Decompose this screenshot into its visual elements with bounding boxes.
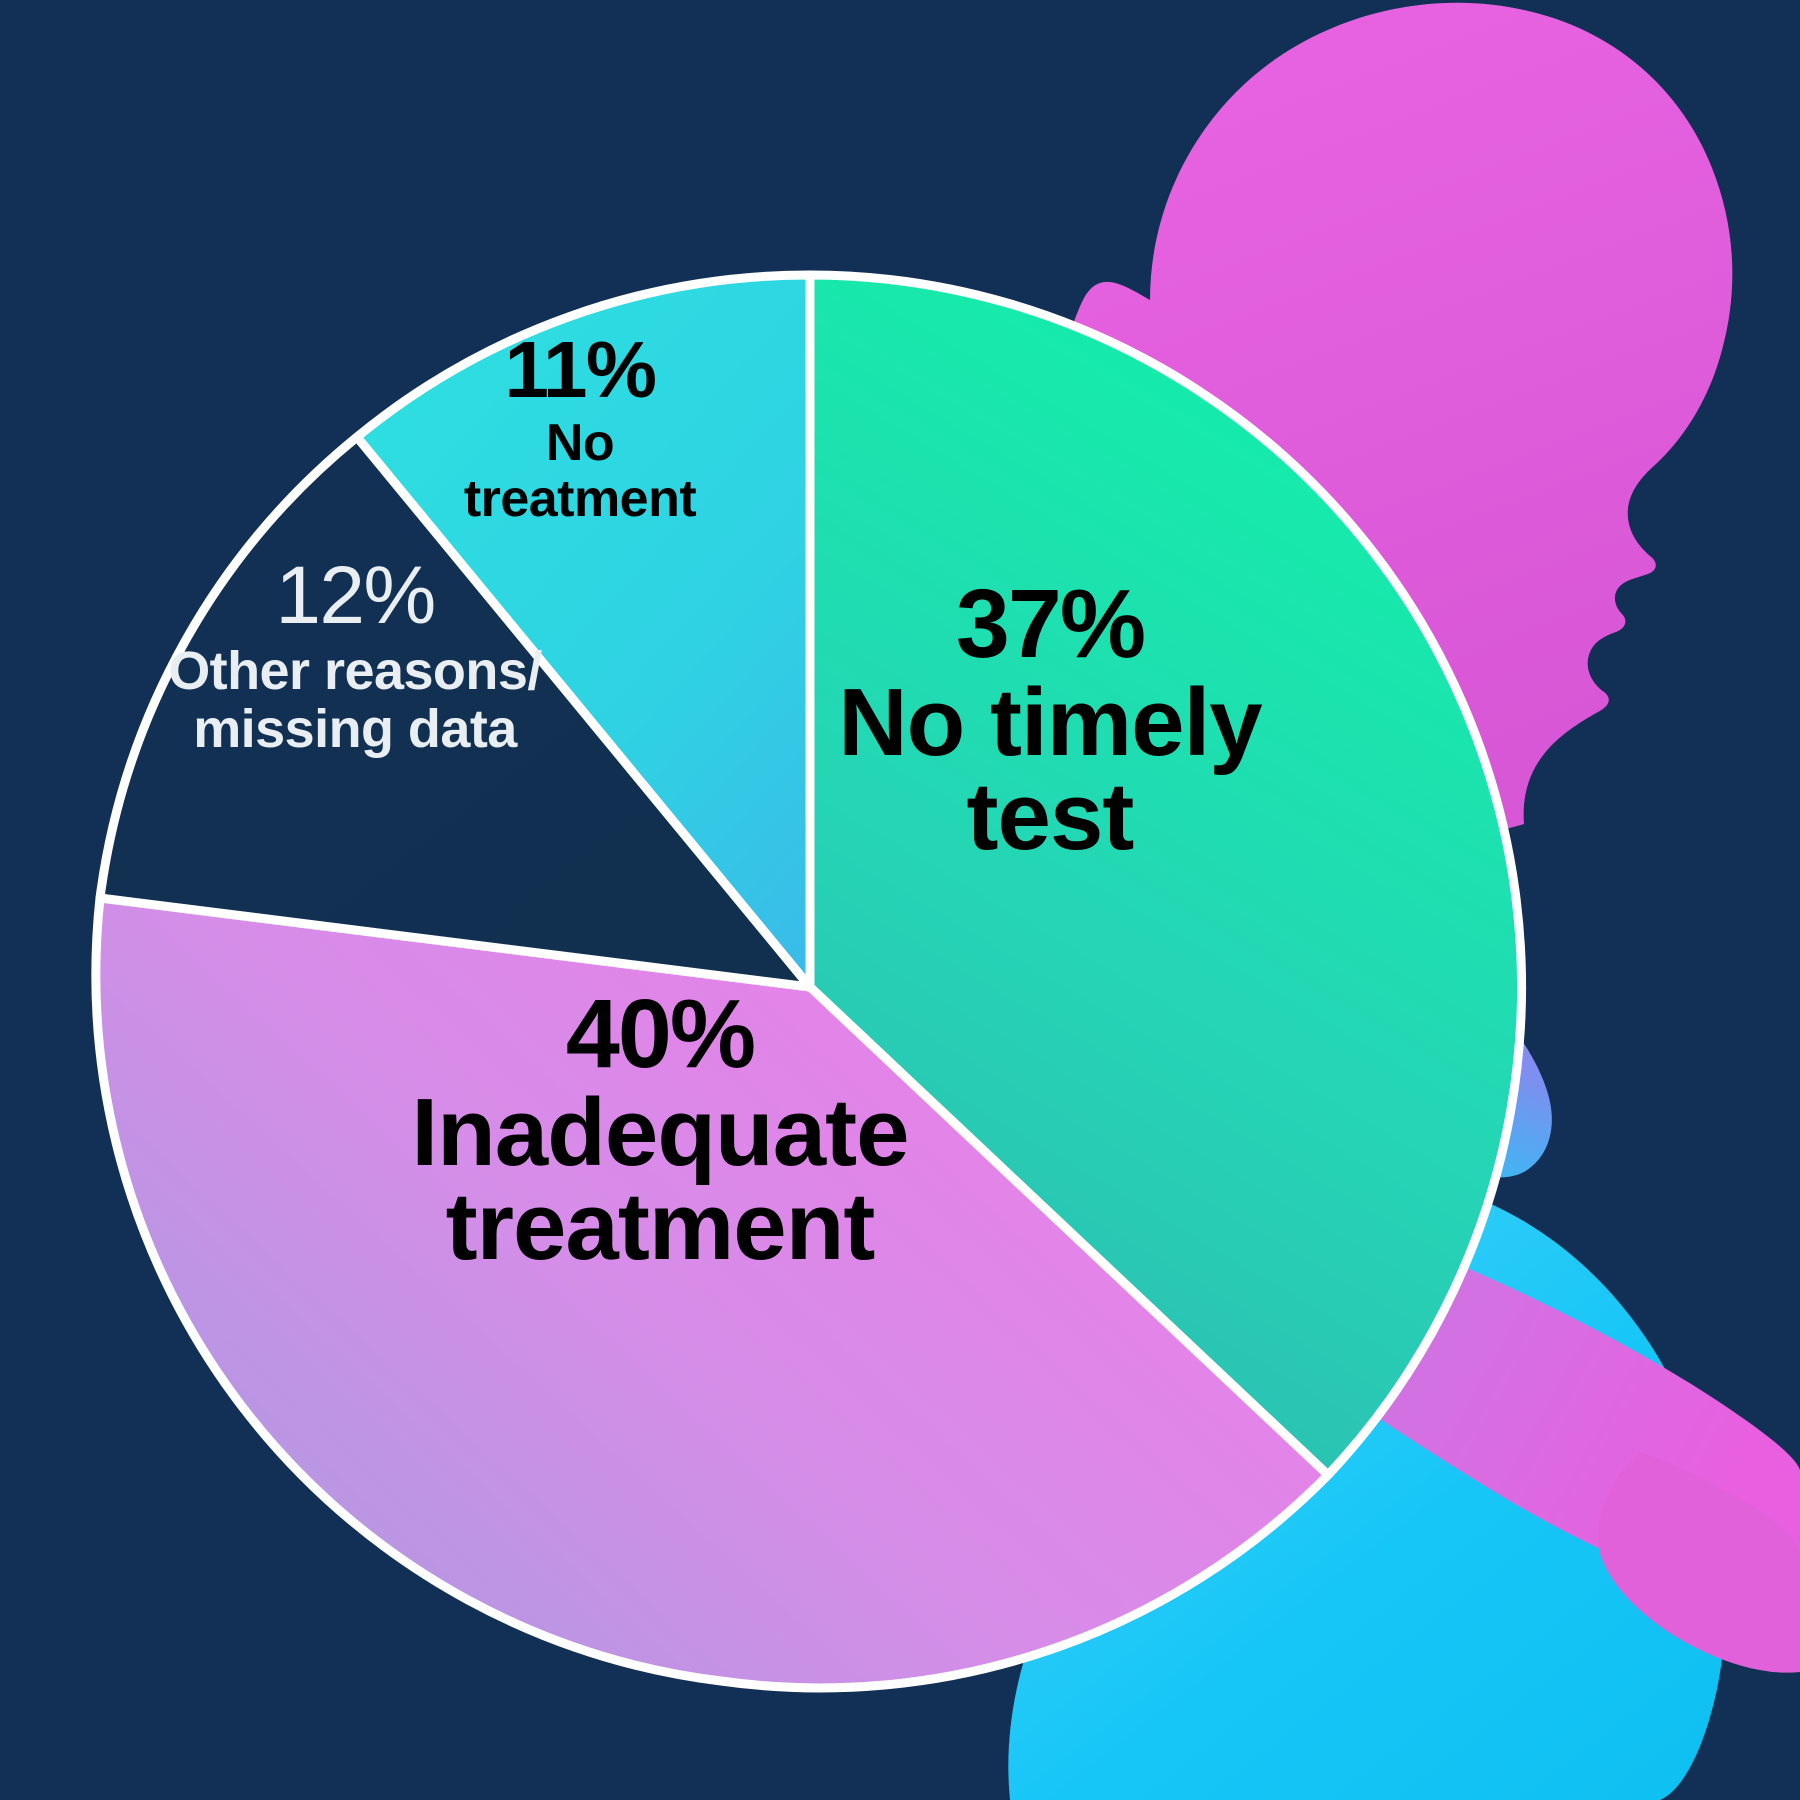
infographic-canvas: 37% No timely test 40% Inadequate treatm… (0, 0, 1800, 1800)
pie-chart (0, 0, 1800, 1800)
